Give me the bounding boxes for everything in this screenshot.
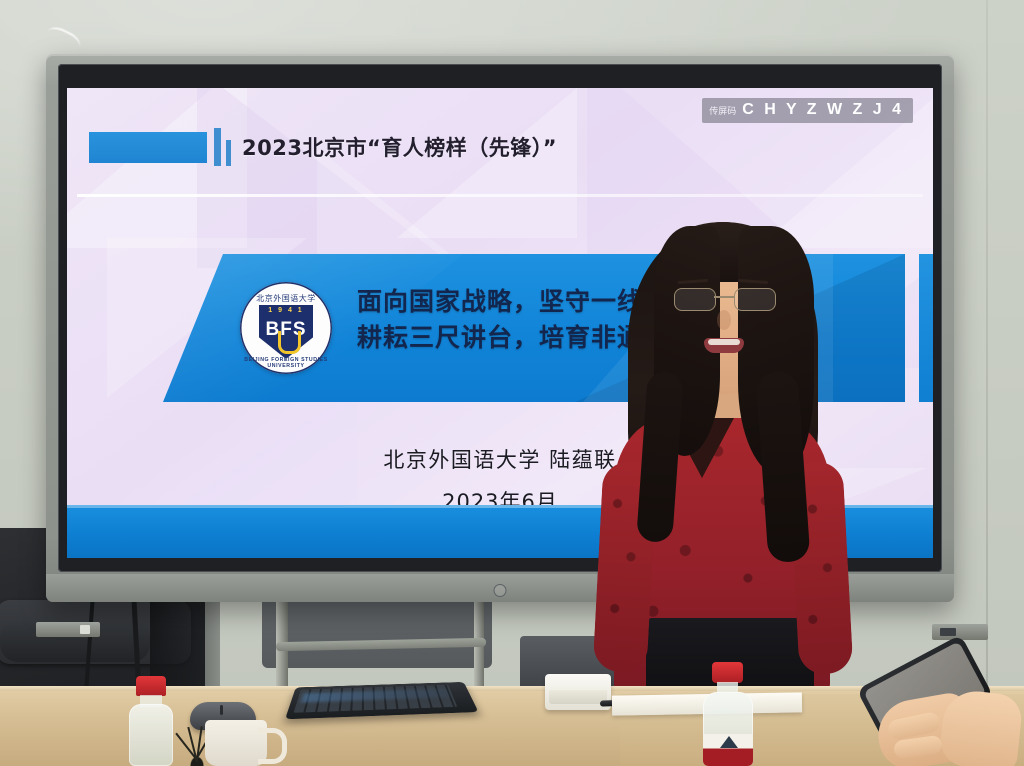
bottle-body (129, 704, 173, 766)
power-button[interactable] (494, 584, 507, 597)
header-accent-bar (226, 140, 231, 166)
slide-header-title: 2023北京市“育人榜样（先锋）” (242, 132, 557, 162)
header-accent-rectangle (89, 132, 207, 163)
emblem-year: 1 9 4 1 (240, 307, 332, 314)
presenter (592, 222, 852, 692)
bottle-cap (136, 676, 166, 696)
screen-cast-code-badge: 传屏码 C H Y Z W Z J 4 (702, 98, 913, 123)
nose (717, 310, 731, 330)
bottle-label (703, 734, 753, 766)
header-accent-bar (214, 128, 221, 166)
hand-holding-phone (858, 652, 1024, 766)
cast-code-value: C H Y Z W Z J 4 (742, 101, 904, 119)
eyeglasses-icon (672, 288, 776, 310)
left-port-panel[interactable] (36, 622, 100, 637)
header-divider (77, 194, 923, 197)
teeth (708, 339, 740, 345)
water-bottle-right[interactable] (700, 662, 754, 766)
meeting-room-scene: 2023北京市“育人榜样（先锋）” 传屏码 C H Y Z W Z J 4 (0, 0, 1024, 766)
glasses-bridge (714, 296, 734, 298)
poly-shard (317, 148, 467, 268)
mug-handle (258, 728, 287, 764)
lens-left (674, 288, 716, 311)
banner-right-strip (919, 254, 933, 402)
bottle-cap (712, 662, 743, 683)
emblem-u-letter (278, 331, 301, 354)
emblem-name-cn: 北京外国语大学 (240, 293, 332, 304)
bfsu-emblem-icon: 北京外国语大学 1 9 4 1 BFS BEIJING FOREIGN STUD… (240, 282, 332, 374)
emblem-name-en: BEIJING FOREIGN STUDIES UNIVERSITY (240, 357, 332, 369)
lens-right (734, 288, 776, 311)
water-bottle-left[interactable] (128, 676, 174, 766)
cast-code-label: 传屏码 (709, 104, 736, 117)
mouth (704, 338, 744, 353)
